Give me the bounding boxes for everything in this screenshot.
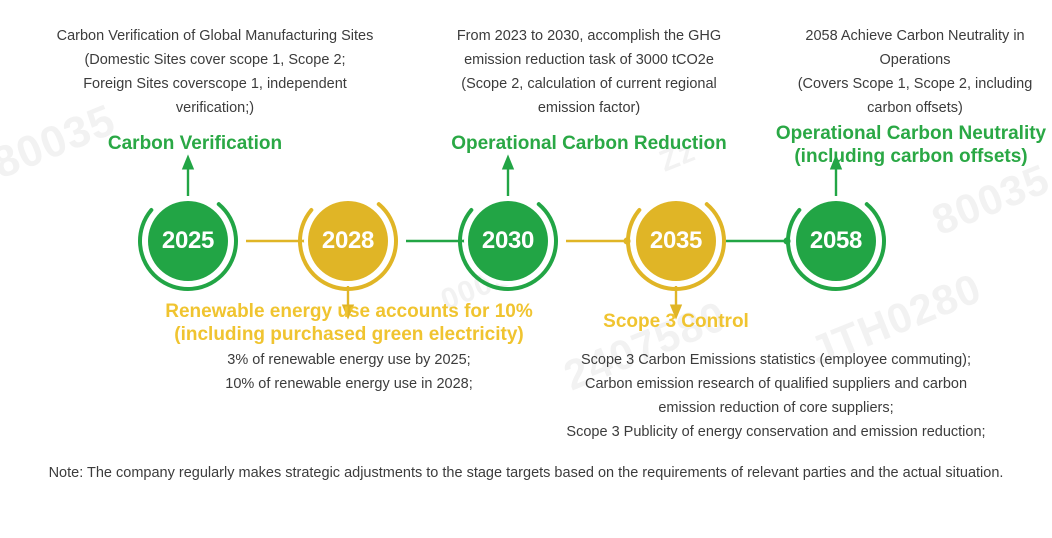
node-year-label: 2025 [162, 229, 214, 253]
milestone-headline-operational-carbon-reduction: Operational Carbon Reduction [424, 132, 754, 155]
timeline-node-2025[interactable]: 2025 [136, 189, 240, 293]
timeline-node-2030[interactable]: 2030 [456, 189, 560, 293]
footer-note: Note: The company regularly makes strate… [0, 462, 1052, 484]
node-disc-2035: 2035 [636, 201, 716, 281]
milestone-headline-scope-3-control: Scope 3 Control [546, 310, 806, 333]
timeline-node-2028[interactable]: 2028 [296, 189, 400, 293]
node-year-label: 2030 [482, 229, 534, 253]
carbon-roadmap-timeline: 080035 0002 Zz 2407580 JTH0280 80035 Car… [0, 0, 1052, 538]
milestone-description-scope-3-control: Scope 3 Carbon Emissions statistics (emp… [540, 348, 1012, 444]
milestone-headline-operational-carbon-neutrality: Operational Carbon Neutrality (including… [770, 122, 1052, 168]
node-disc-2058: 2058 [796, 201, 876, 281]
milestone-headline-renewable-energy: Renewable energy use accounts for 10% (i… [152, 300, 546, 346]
node-disc-2025: 2025 [148, 201, 228, 281]
milestone-description-operational-carbon-reduction: From 2023 to 2030, accomplish the GHG em… [424, 24, 754, 120]
node-year-label: 2035 [650, 229, 702, 253]
milestone-description-operational-carbon-neutrality: 2058 Achieve Carbon Neutrality in Operat… [778, 24, 1052, 120]
timeline-node-2035[interactable]: 2035 [624, 189, 728, 293]
node-year-label: 2028 [322, 229, 374, 253]
node-year-label: 2058 [810, 229, 862, 253]
milestone-description-carbon-verification: Carbon Verification of Global Manufactur… [28, 24, 402, 120]
milestone-description-renewable-energy: 3% of renewable energy use by 2025; 10% … [152, 348, 546, 396]
timeline-node-2058[interactable]: 2058 [784, 189, 888, 293]
node-disc-2028: 2028 [308, 201, 388, 281]
node-disc-2030: 2030 [468, 201, 548, 281]
milestone-headline-carbon-verification: Carbon Verification [28, 132, 362, 155]
watermark: 80035 [925, 155, 1052, 245]
